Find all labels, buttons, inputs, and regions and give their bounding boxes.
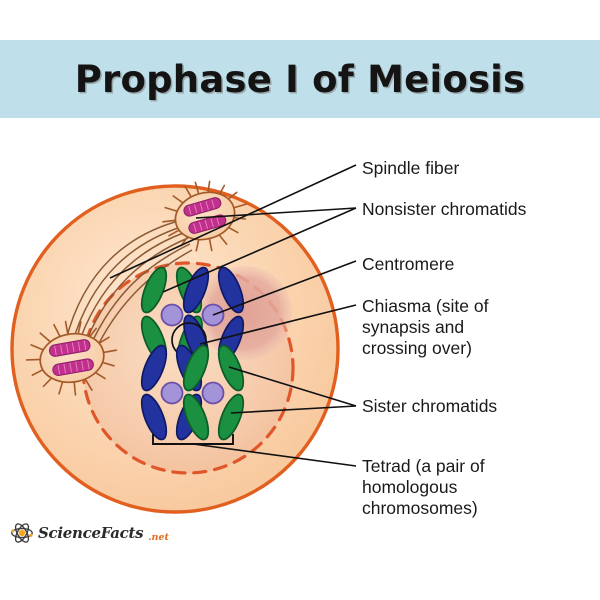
centromere-green-upper [162, 305, 183, 326]
label-chiasma: Chiasma (site of synapsis and crossing o… [362, 296, 488, 359]
logo-tld: .net [148, 532, 169, 545]
logo-text: ScienceFacts [38, 524, 143, 542]
diagram-page: Prophase I of Meiosis [0, 0, 600, 600]
centromere-blue-lower [162, 383, 183, 404]
label-nonsister-chromatids: Nonsister chromatids [362, 199, 526, 220]
centromere-green-lower [203, 383, 224, 404]
sciencefacts-logo: ScienceFacts .net [10, 521, 169, 545]
prophase-i-cell-diagram [0, 118, 600, 558]
atom-icon [10, 521, 34, 545]
label-centromere: Centromere [362, 254, 454, 275]
page-title: Prophase I of Meiosis [75, 58, 526, 101]
title-band: Prophase I of Meiosis [0, 40, 600, 118]
label-spindle-fiber: Spindle fiber [362, 158, 459, 179]
label-tetrad: Tetrad (a pair of homologous chromosomes… [362, 456, 485, 519]
label-sister-chromatids: Sister chromatids [362, 396, 497, 417]
